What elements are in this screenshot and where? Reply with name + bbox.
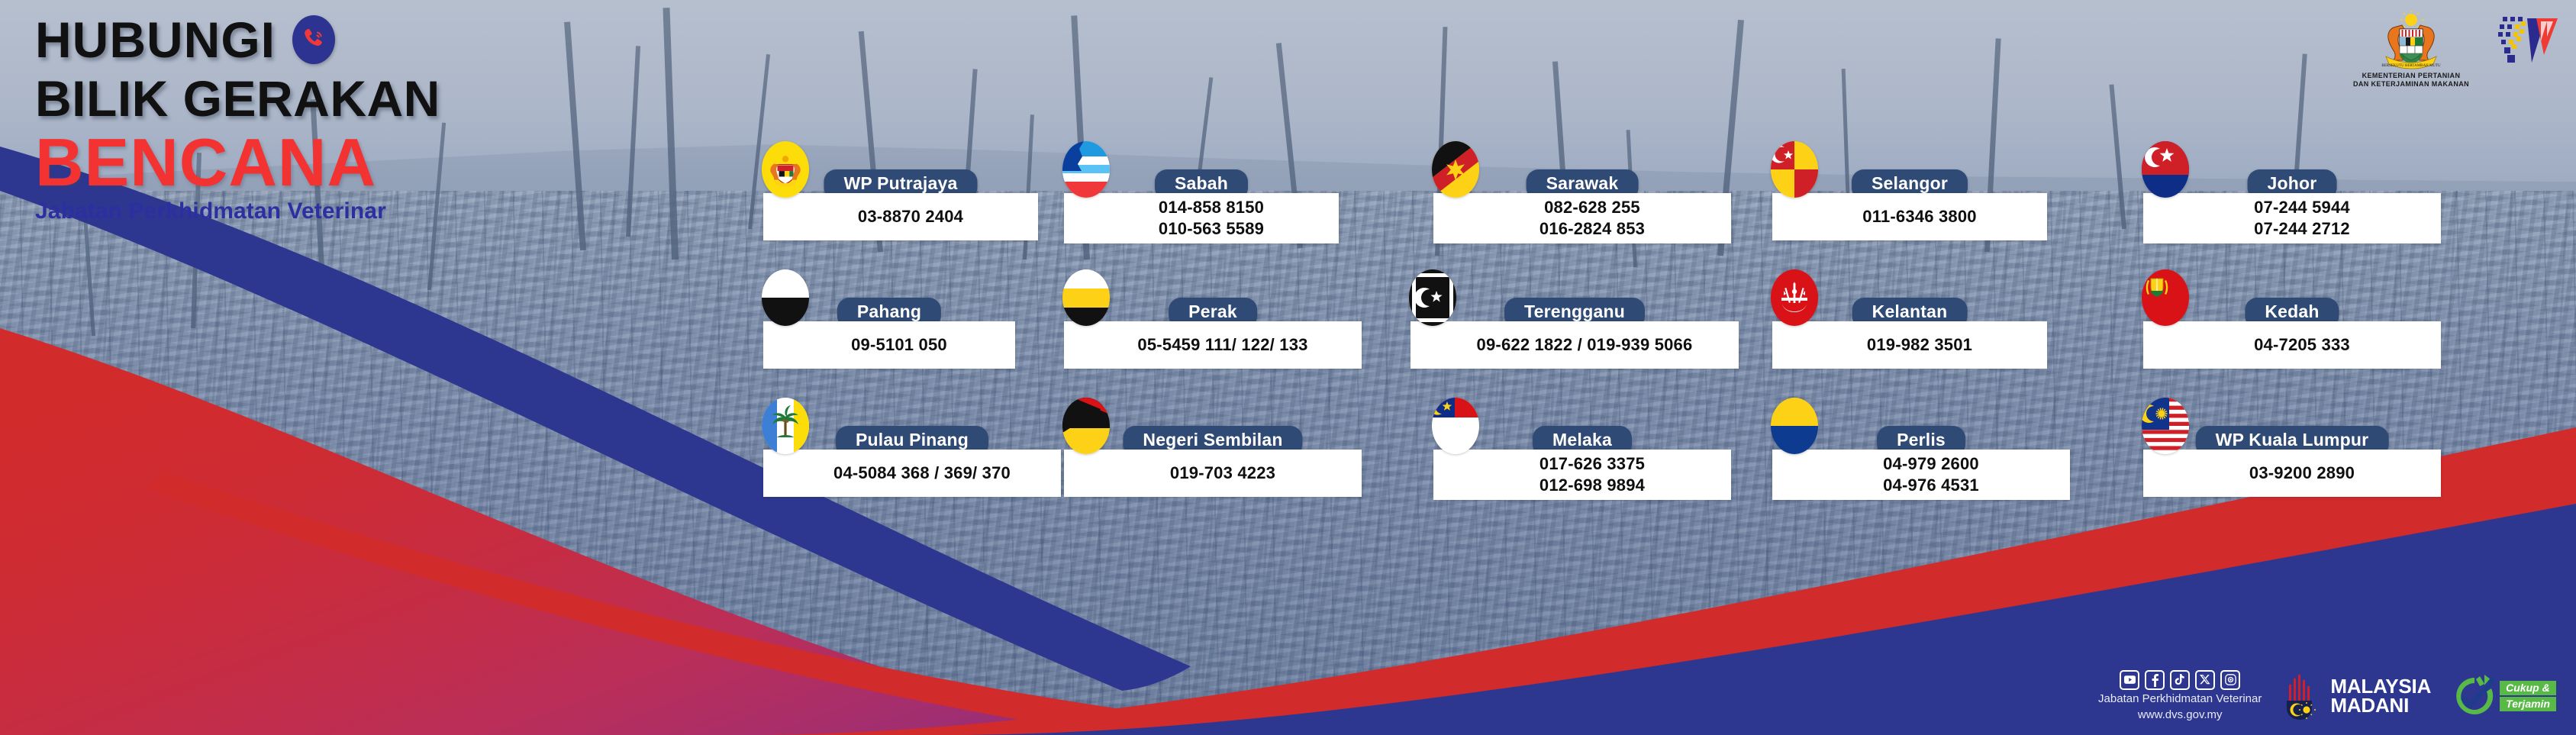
phone-numbers: 03-8870 2404 [763,206,1038,227]
tiktok-icon[interactable] [2170,670,2190,690]
phone-call-icon [292,15,335,64]
madani-line-2: MADANI [2330,696,2431,715]
sarawak-flag [1432,141,1479,198]
phone-numbers: 09-622 1822 / 019-939 5066 [1411,334,1739,356]
malaysia-madani-logo: MALAYSIA MADANI [2281,672,2431,720]
phone-numbers: 09-5101 050 [763,334,1015,356]
title-bilik-gerakan: BILIK GERAKAN [35,68,440,130]
perak-flag [1062,269,1110,326]
mygov-chevron-logo [2498,11,2561,70]
phone-numbers: 011-6346 3800 [1772,206,2047,227]
top-right-logos: BERSEKUTU BERTAMBAH MUTU KEMENTERIAN PER… [2335,11,2561,89]
phone-bar: 03-9200 2890 [2143,450,2441,497]
phone-bar: 09-622 1822 / 019-939 5066 [1411,321,1739,369]
kelantan-flag [1771,269,1818,326]
melaka-flag [1432,398,1479,454]
kedah-flag [2142,269,2189,326]
phone-number[interactable]: 012-698 9894 [1539,475,1645,496]
phone-bar: 04-5084 368 / 369/ 370 [763,450,1061,497]
ministry-name: KEMENTERIAN PERTANIAN DAN KETERJAMINAN M… [2353,72,2469,89]
facebook-icon[interactable] [2145,670,2165,690]
phone-number[interactable]: 016-2824 853 [1539,218,1645,240]
title-bencana: BENCANA [35,131,440,195]
negeri-sembilan-flag [1062,398,1110,454]
phone-number[interactable]: 019-982 3501 [1867,334,1972,356]
header-subtitle: Jabatan Perkhidmatan Veterinar [35,198,440,224]
selangor-flag [1771,141,1818,198]
title-row-1: HUBUNGI [35,14,440,66]
footer-website[interactable]: www.dvs.gov.my [2138,708,2223,723]
phone-bar: 03-8870 2404 [763,193,1038,240]
phone-bar: 05-5459 111/ 122/ 133 [1064,321,1362,369]
footer-org-name: Jabatan Perkhidmatan Veterinar [2098,692,2262,707]
phone-number[interactable]: 03-8870 2404 [858,206,963,227]
header-block: HUBUNGI BILIK GERAKAN BENCANA Jabatan Pe… [35,14,440,224]
youtube-icon[interactable] [2120,670,2139,690]
cukup-line-1: Cukup & [2500,681,2556,695]
phone-bar: 07-244 594407-244 2712 [2143,193,2441,243]
phone-number[interactable]: 09-622 1822 / 019-939 5066 [1477,334,1693,356]
johor-flag [2142,141,2189,198]
phone-number[interactable]: 017-626 3375 [1539,453,1645,475]
phone-numbers: 017-626 3375012-698 9894 [1433,453,1731,495]
phone-number[interactable]: 07-244 2712 [2254,218,2350,240]
phone-number[interactable]: 05-5459 111/ 122/ 133 [1137,334,1307,356]
phone-number[interactable]: 010-563 5589 [1159,218,1264,240]
cukup-terjamin-wordmark: Cukup & Terjamin [2500,681,2556,711]
ministry-line-2: DAN KETERJAMINAN MAKANAN [2353,80,2469,89]
wp-putrajaya-flag [762,141,809,198]
phone-numbers: 014-858 8150010-563 5589 [1064,197,1339,239]
phone-bar: 019-703 4223 [1064,450,1362,497]
phone-bar: 019-982 3501 [1772,321,2047,369]
malaysia-coat-of-arms-icon: BERSEKUTU BERTAMBAH MUTU [2366,11,2456,70]
phone-numbers: 07-244 594407-244 2712 [2143,197,2441,239]
sabah-flag [1062,141,1110,198]
phone-bar: 082-628 255016-2824 853 [1433,193,1731,243]
phone-number[interactable]: 04-5084 368 / 369/ 370 [833,463,1011,484]
phone-number[interactable]: 082-628 255 [1544,197,1640,218]
phone-numbers: 04-5084 368 / 369/ 370 [763,463,1061,484]
phone-numbers: 03-9200 2890 [2143,463,2441,484]
ministry-logo: BERSEKUTU BERTAMBAH MUTU KEMENTERIAN PER… [2335,11,2487,89]
footer-content: Jabatan Perkhidmatan Veterinar www.dvs.g… [2098,670,2556,724]
instagram-icon[interactable] [2220,670,2240,690]
phone-numbers: 019-703 4223 [1064,463,1362,484]
social-icons-row [2120,670,2240,690]
perlis-flag [1771,398,1818,454]
pahang-flag [762,269,809,326]
ministry-line-1: KEMENTERIAN PERTANIAN [2353,72,2469,80]
madani-wordmark: MALAYSIA MADANI [2330,677,2431,715]
phone-number[interactable]: 019-703 4223 [1170,463,1275,484]
phone-number[interactable]: 07-244 5944 [2254,197,2350,218]
phone-number[interactable]: 04-979 2600 [1883,453,1979,475]
cukup-terjamin-logo: Cukup & Terjamin [2451,673,2556,719]
phone-bar: 014-858 8150010-563 5589 [1064,193,1339,243]
svg-text:BERSEKUTU BERTAMBAH MUTU: BERSEKUTU BERTAMBAH MUTU [2381,64,2441,68]
phone-numbers: 05-5459 111/ 122/ 133 [1064,334,1362,356]
phone-bar: 04-979 260004-976 4531 [1772,450,2070,500]
phone-number[interactable]: 011-6346 3800 [1862,206,1976,227]
phone-number[interactable]: 014-858 8150 [1159,197,1264,218]
x-twitter-icon[interactable] [2195,670,2215,690]
phone-bar: 017-626 3375012-698 9894 [1433,450,1731,500]
phone-bar: 09-5101 050 [763,321,1015,369]
social-and-site: Jabatan Perkhidmatan Veterinar www.dvs.g… [2098,670,2262,724]
phone-number[interactable]: 04-7205 333 [2254,334,2350,356]
phone-numbers: 04-7205 333 [2143,334,2441,356]
phone-number[interactable]: 04-976 4531 [1883,475,1979,496]
phone-numbers: 019-982 3501 [1772,334,2047,356]
phone-bar: 011-6346 3800 [1772,193,2047,240]
cukup-line-2: Terjamin [2500,697,2556,711]
phone-number[interactable]: 03-9200 2890 [2249,463,2355,484]
malaysia-flag [2142,398,2189,454]
cukup-terjamin-checkmark-logo [2451,673,2498,719]
pulau-pinang-flag [762,398,809,454]
phone-numbers: 082-628 255016-2824 853 [1433,197,1731,239]
terengganu-flag [1409,269,1456,326]
phone-number[interactable]: 09-5101 050 [851,334,947,356]
phone-bar: 04-7205 333 [2143,321,2441,369]
title-hubungi: HUBUNGI [35,14,276,66]
phone-numbers: 04-979 260004-976 4531 [1772,453,2070,495]
